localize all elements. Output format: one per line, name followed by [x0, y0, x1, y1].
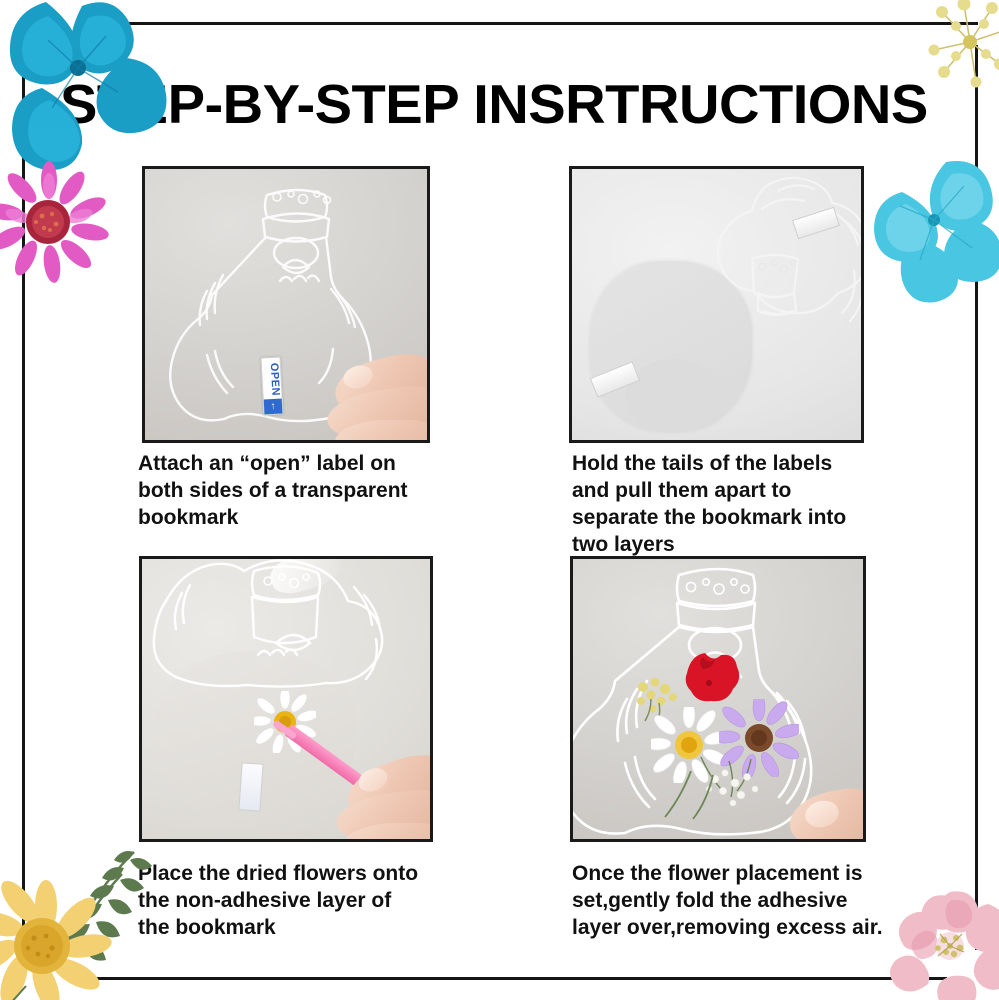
white-tab-3 [238, 762, 263, 811]
step-1-photo: OPEN ↑ [142, 166, 430, 443]
hand-holding-bookmark-1 [321, 346, 430, 443]
red-pressed-flower [679, 651, 741, 703]
finger-holding-bookmark-4 [777, 777, 866, 842]
step-3-photo [139, 556, 433, 842]
babys-breath-top-right-icon [930, 0, 999, 88]
step-2-caption: Hold the tails of the labels and pull th… [572, 450, 912, 558]
bookmark-lid-dots-1 [267, 187, 337, 209]
blue-hydrangea-top-left-icon [0, 0, 176, 181]
frame-bottom-line [92, 977, 947, 980]
flower-stems [643, 771, 753, 833]
open-label-text: OPEN [262, 360, 282, 401]
step-4-caption: Once the flower placement is set,gently … [572, 860, 922, 941]
cyan-hydrangea-right-icon [872, 158, 999, 284]
hand-holding-tweezers [328, 757, 433, 842]
step-1-caption: Attach an “open” label on both sides of … [138, 450, 468, 531]
instruction-poster: STEP-BY-STEP INSRTRUCTIONS [0, 0, 999, 1000]
step-4-photo [570, 556, 866, 842]
yellow-daisy-bottom-left-icon [0, 840, 164, 1000]
page-title: STEP-BY-STEP INSRTRUCTIONS [60, 72, 978, 136]
bookmark-layer-upper-1 [692, 166, 864, 383]
step-3-caption: Place the dried flowers onto the non-adh… [138, 860, 478, 941]
pink-blossom-bottom-right-icon [892, 890, 999, 1000]
open-label-tab: OPEN ↑ [260, 357, 283, 416]
open-label-arrow: ↑ [264, 399, 283, 415]
frame-top-line [112, 22, 978, 25]
step-2-photo [569, 166, 864, 443]
pink-daisy-left-icon [0, 168, 102, 280]
